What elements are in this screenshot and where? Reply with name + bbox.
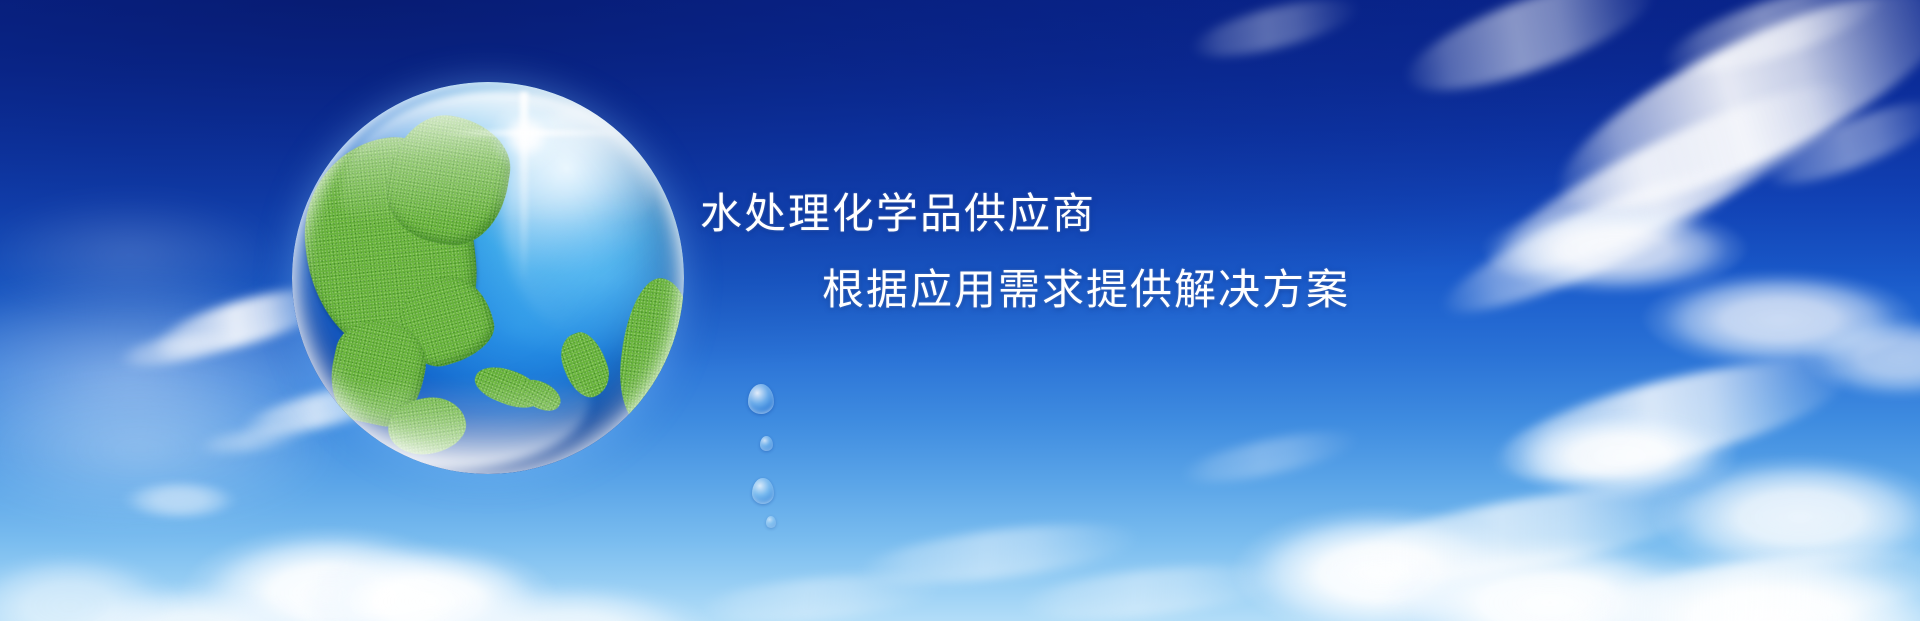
banner-headline-line1: 水处理化学品供应商 [700, 186, 1600, 242]
banner-headline-line2: 根据应用需求提供解决方案 [822, 262, 1600, 318]
sun-flare-vertical-ray [520, 92, 528, 282]
globe-sphere [292, 82, 684, 474]
hero-banner: 水处理化学品供应商 根据应用需求提供解决方案 [0, 0, 1920, 621]
glass-globe-icon [292, 82, 684, 474]
water-droplet-icon [760, 436, 773, 451]
sun-flare-horizontal-ray [442, 130, 632, 136]
water-droplet-icon [748, 384, 774, 414]
water-droplet-icon [752, 478, 774, 504]
banner-copy: 水处理化学品供应商 根据应用需求提供解决方案 [700, 186, 1600, 318]
water-droplet-icon [766, 516, 776, 528]
